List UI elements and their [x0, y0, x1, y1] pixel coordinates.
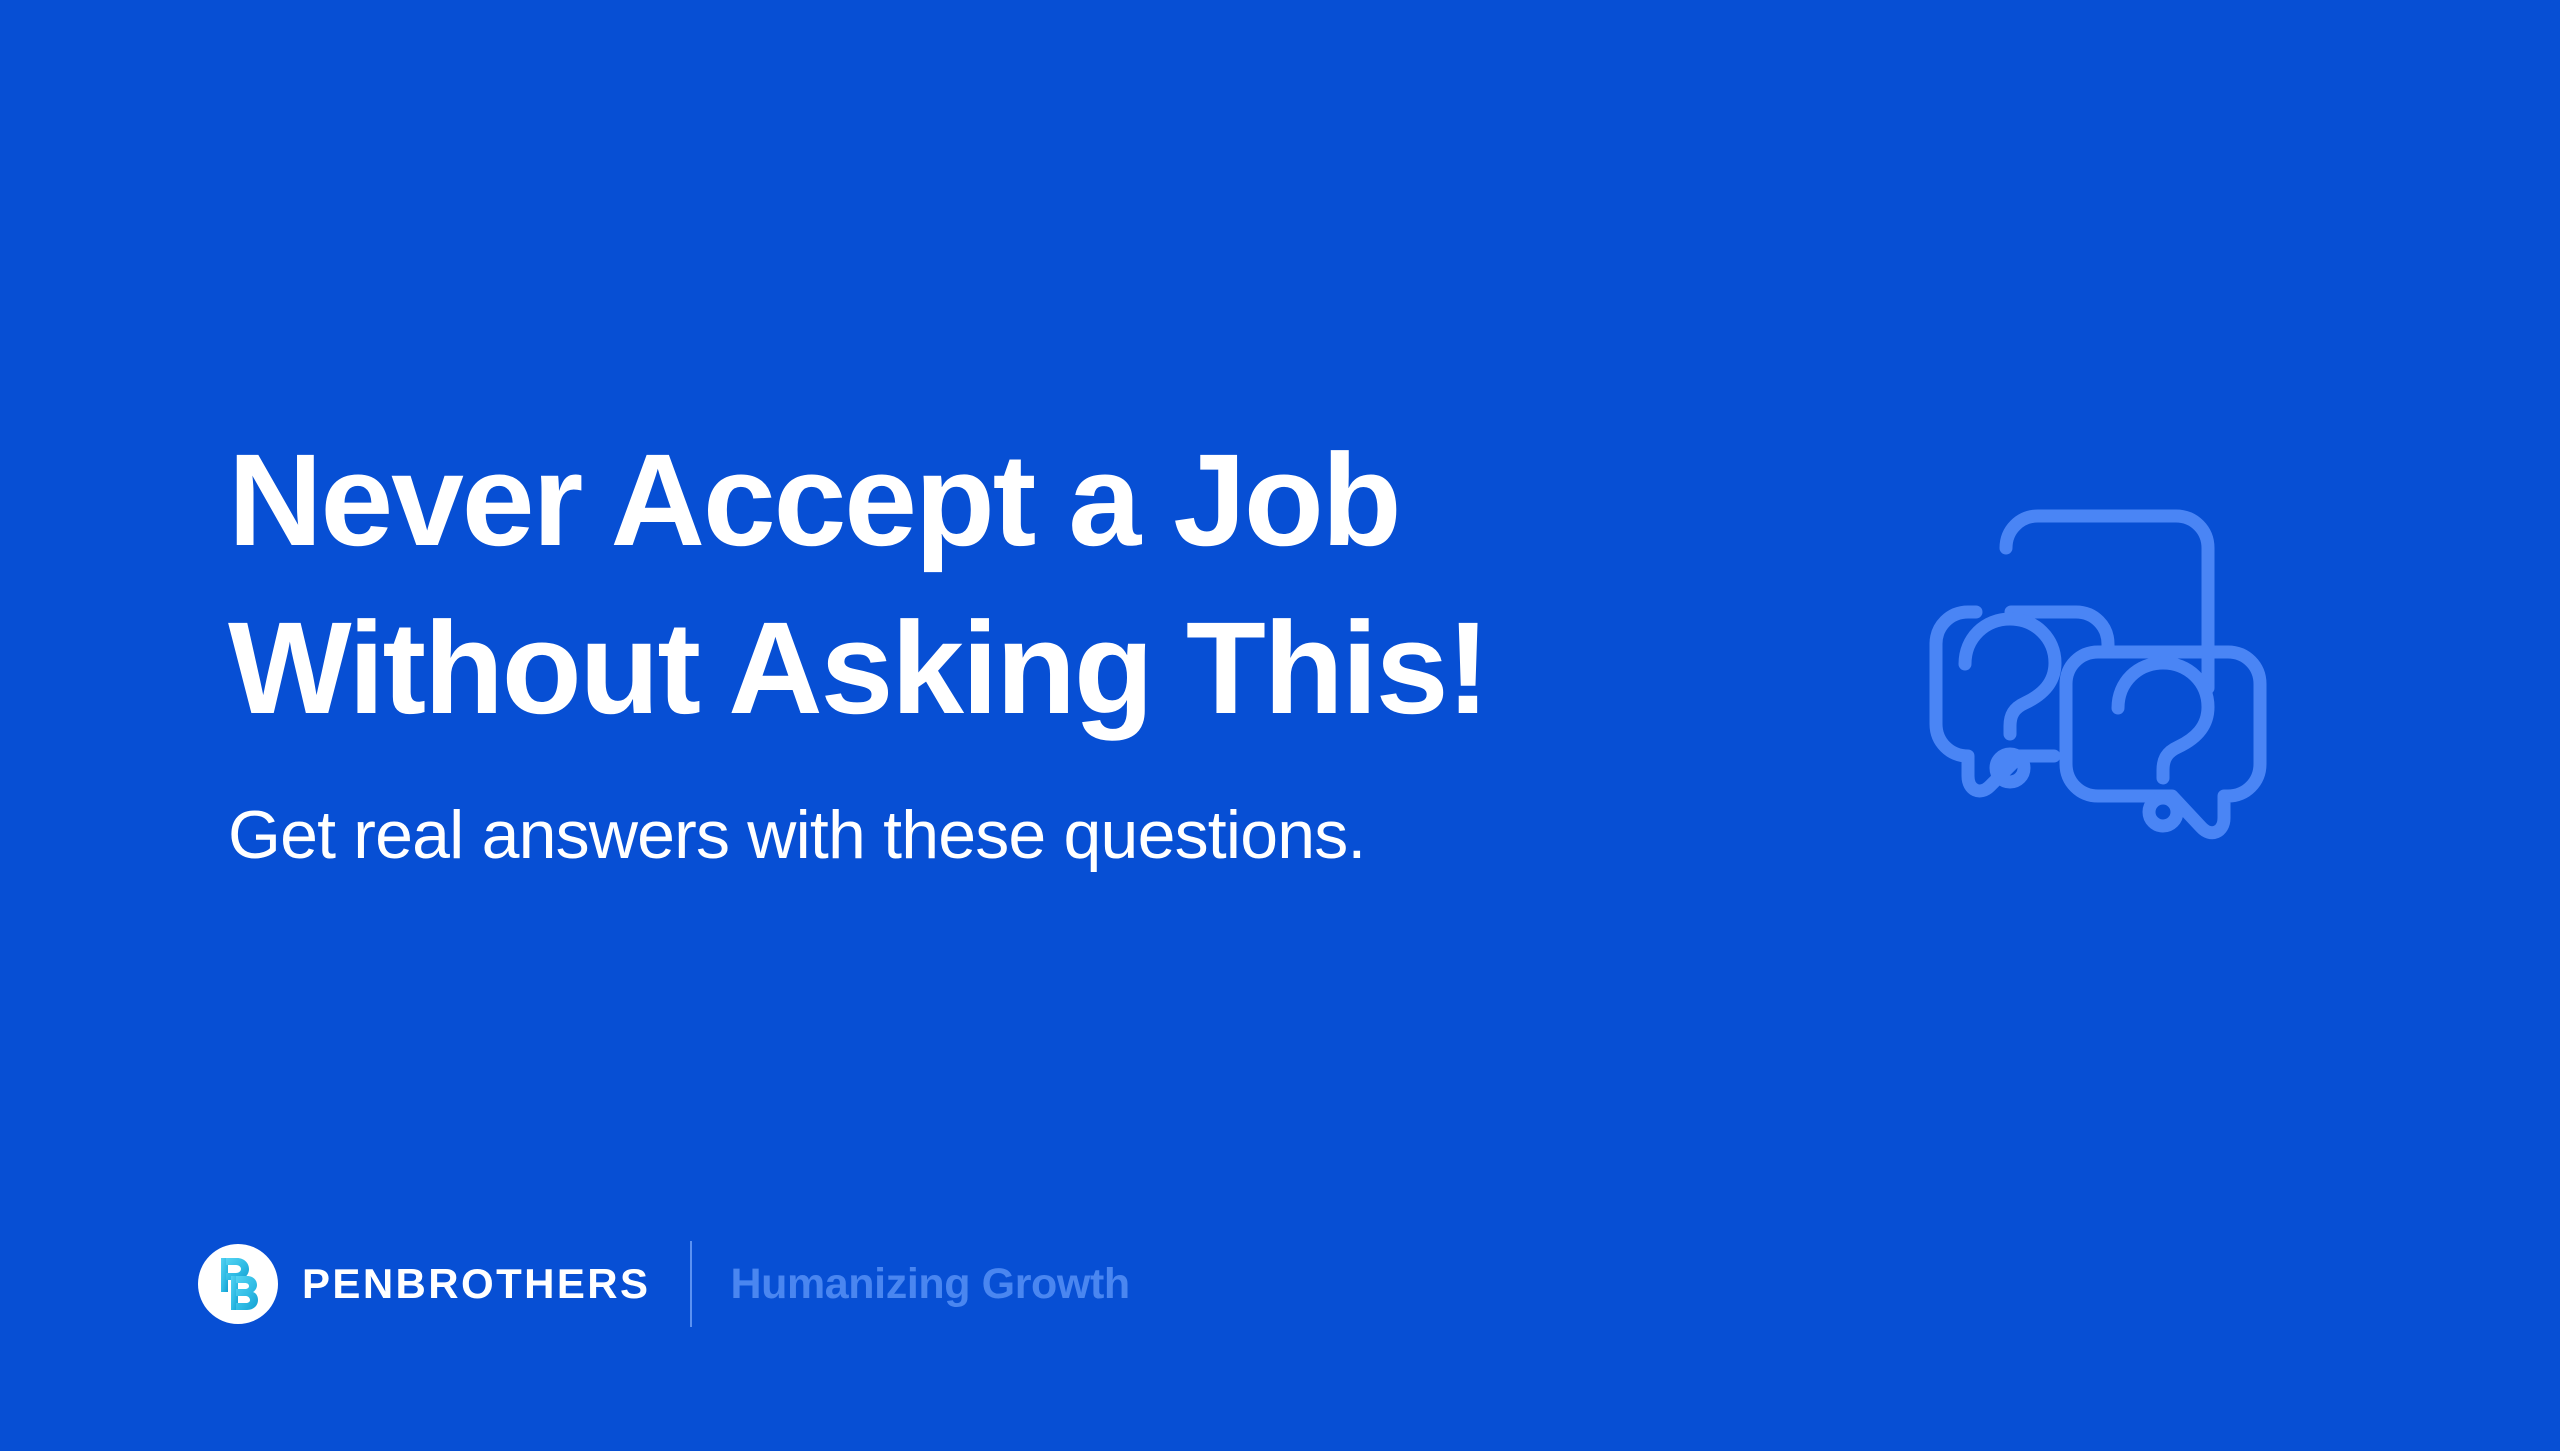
hero-content-block: Never Accept a Job Without Asking This! …: [228, 416, 1788, 877]
question-mark-right-dot: [2149, 798, 2177, 826]
headline-line-2: Without Asking This!: [228, 584, 1788, 752]
brand-name: PENBROTHERS: [302, 1263, 650, 1305]
question-mark-left-hook: [1965, 619, 2055, 734]
brand-tagline: Humanizing Growth: [730, 1263, 1129, 1306]
slide-canvas: Never Accept a Job Without Asking This! …: [0, 0, 2560, 1451]
footer-divider: [690, 1241, 692, 1327]
page-title: Never Accept a Job Without Asking This!: [228, 416, 1788, 751]
penbrothers-logo-lockup[interactable]: PENBROTHERS: [198, 1244, 650, 1324]
logo-badge-circle: [198, 1244, 278, 1324]
footer-branding: PENBROTHERS Humanizing Growth: [198, 1240, 1130, 1328]
question-mark-right-hook: [2118, 663, 2208, 778]
question-bubbles-icon: [1880, 452, 2310, 852]
bubble-front-outline: [2066, 652, 2260, 833]
pb-monogram-icon: [215, 1256, 261, 1312]
question-bubbles-svg: [1880, 452, 2310, 852]
hero-subtitle: Get real answers with these questions.: [228, 751, 1788, 877]
headline-line-1: Never Accept a Job: [228, 416, 1788, 584]
